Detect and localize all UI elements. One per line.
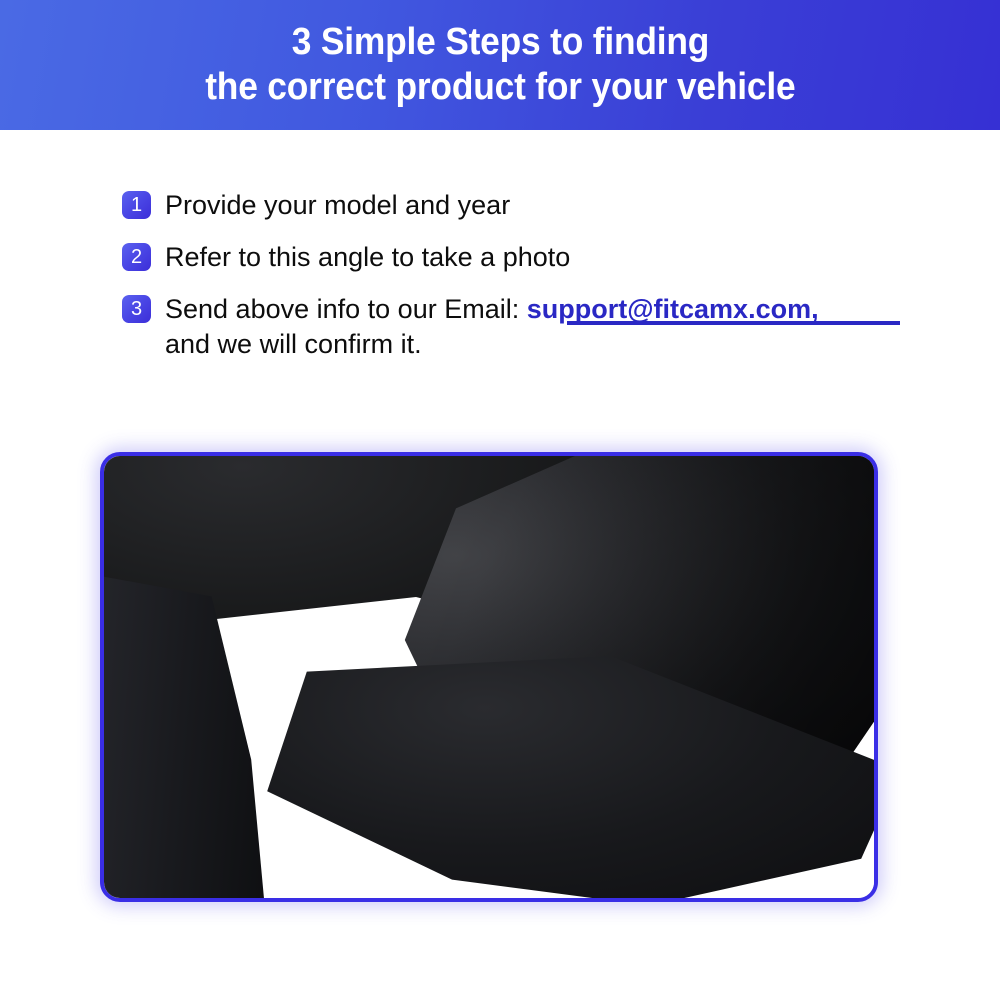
header-banner: 3 Simple Steps to finding the correct pr… [0, 0, 1000, 130]
windshield-pillar-trim [104, 576, 280, 898]
step3-text-after: and we will confirm it. [165, 329, 422, 359]
step-label-3: Send above info to our Email: support@fi… [165, 292, 819, 362]
steps-list: 1 Provide your model and year 2 Refer to… [122, 188, 922, 379]
banner-title-line1: 3 Simple Steps to finding [291, 20, 709, 64]
banner-title-line2: the correct product for your vehicle [205, 64, 795, 110]
step-number-badge-1: 1 [122, 191, 151, 219]
step-number-badge-2: 2 [122, 243, 151, 271]
step3-text-before: Send above info to our Email: [165, 294, 527, 324]
support-email-link[interactable]: support@fitcamx.com, [527, 294, 819, 324]
step-item-3: 3 Send above info to our Email: support@… [122, 292, 922, 362]
step-label-2: Refer to this angle to take a photo [165, 240, 570, 275]
reference-photo-image [104, 456, 874, 898]
step-label-1: Provide your model and year [165, 188, 510, 223]
step-item-2: 2 Refer to this angle to take a photo [122, 240, 922, 275]
email-underline [567, 321, 900, 325]
reference-photo-frame [100, 452, 878, 902]
step-number-badge-3: 3 [122, 295, 151, 323]
step-item-1: 1 Provide your model and year [122, 188, 922, 223]
